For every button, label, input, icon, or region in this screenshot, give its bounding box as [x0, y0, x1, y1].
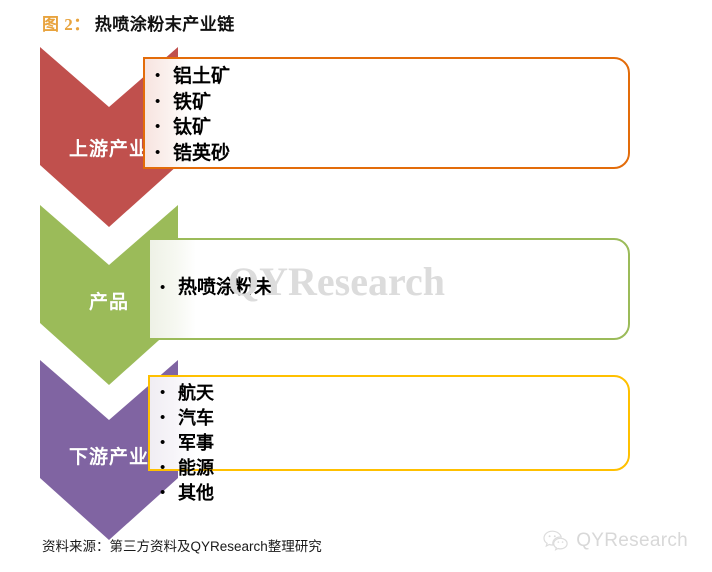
- list-item: 军事: [150, 431, 628, 456]
- item-list-downstream: 航天 汽车 军事 能源 其他: [150, 377, 628, 506]
- list-item: 锆英砂: [145, 141, 628, 167]
- figure-number: 图 2：: [42, 15, 91, 34]
- list-item: 铝土矿: [145, 64, 628, 90]
- list-item: 能源: [150, 456, 628, 481]
- list-item: 热喷涂粉末: [150, 276, 628, 300]
- list-item: 航天: [150, 381, 628, 406]
- brand-mark: QYResearch: [543, 530, 688, 552]
- page-title: 图 2：热喷涂粉末产业链: [42, 10, 235, 35]
- list-item: 铁矿: [145, 90, 628, 116]
- item-list-upstream: 铝土矿 铁矿 钛矿 锆英砂: [145, 59, 628, 166]
- stage-detail-box-product: 热喷涂粉末: [148, 238, 630, 340]
- list-item: 钛矿: [145, 115, 628, 141]
- item-list-product: 热喷涂粉末: [150, 240, 628, 300]
- wechat-icon: [543, 530, 569, 552]
- stage-detail-box-downstream: 航天 汽车 军事 能源 其他: [148, 375, 630, 471]
- figure-name: 热喷涂粉末产业链: [95, 15, 235, 34]
- list-item: 其他: [150, 481, 628, 506]
- list-item: 汽车: [150, 406, 628, 431]
- brand-text: QYResearch: [576, 530, 688, 552]
- stage-detail-box-upstream: 铝土矿 铁矿 钛矿 锆英砂: [143, 57, 630, 169]
